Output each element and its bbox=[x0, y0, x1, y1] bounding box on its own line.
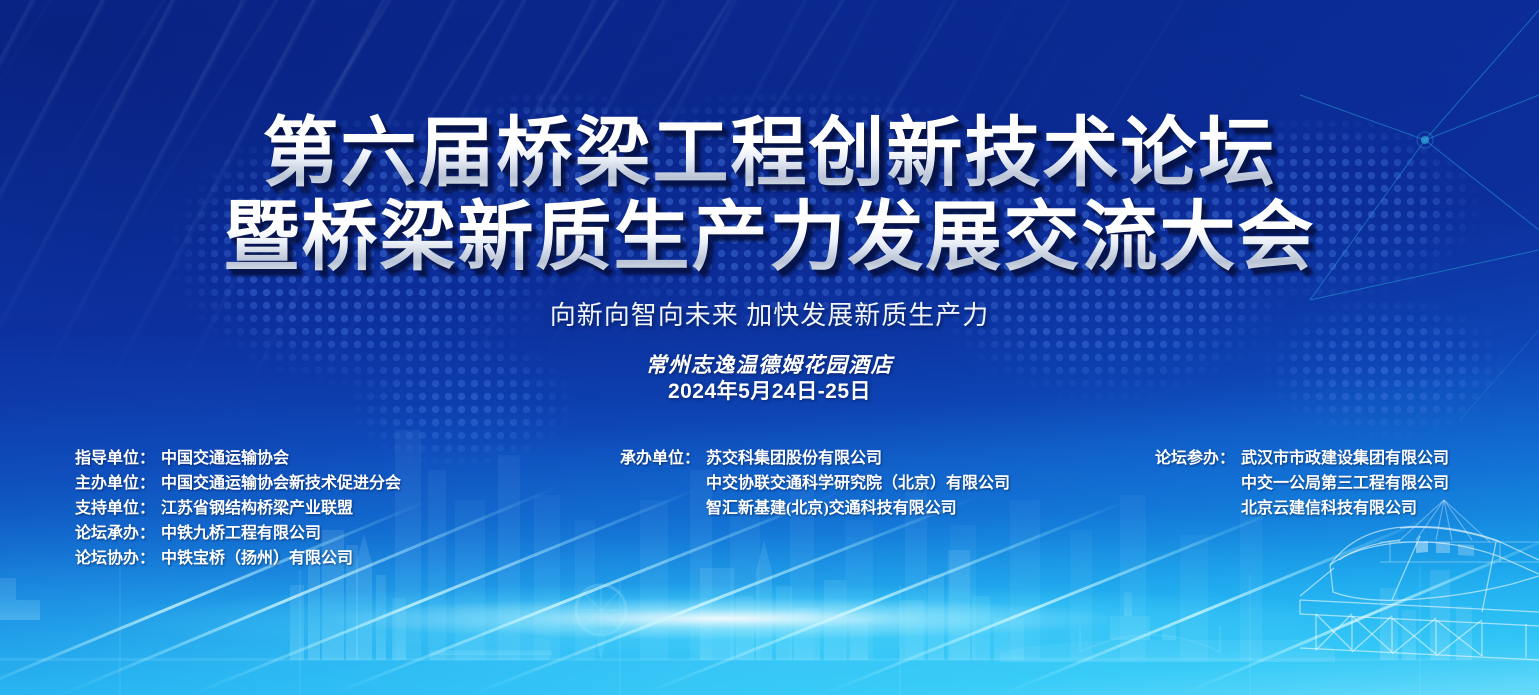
credit-row: 论坛承办： 中铁九桥工程有限公司 bbox=[75, 521, 401, 546]
credit-value: 中铁九桥工程有限公司 bbox=[161, 521, 321, 546]
venue-name: 常州志逸温德姆花园酒店 bbox=[0, 352, 1539, 378]
credit-label: 支持单位： bbox=[75, 496, 161, 521]
credit-value: 北京云建信科技有限公司 bbox=[1241, 496, 1417, 521]
credit-row: 论坛参办： 北京云建信科技有限公司 bbox=[1155, 496, 1449, 521]
credits-section: 指导单位： 中国交通运输协会 主办单位： 中国交通运输协会新技术促进分会 支持单… bbox=[0, 446, 1539, 576]
credit-label: 论坛承办： bbox=[75, 521, 161, 546]
credit-value: 中交协联交通科学研究院（北京）有限公司 bbox=[706, 471, 1010, 496]
subtitle: 向新向智向未来 加快发展新质生产力 bbox=[0, 295, 1539, 332]
credit-value: 中国交通运输协会新技术促进分会 bbox=[161, 471, 401, 496]
credit-row: 承办单位： 智汇新基建(北京)交通科技有限公司 bbox=[620, 496, 1010, 521]
credits-column-middle: 承办单位： 苏交科集团股份有限公司 承办单位： 中交协联交通科学研究院（北京）有… bbox=[620, 446, 1010, 521]
credits-column-right: 论坛参办： 武汉市市政建设集团有限公司 论坛参办： 中交一公局第三工程有限公司 … bbox=[1155, 446, 1449, 521]
credit-label: 承办单位： bbox=[620, 446, 706, 471]
credit-value: 智汇新基建(北京)交通科技有限公司 bbox=[706, 496, 957, 521]
credit-value: 中铁宝桥（扬州）有限公司 bbox=[161, 546, 353, 571]
credit-row: 论坛参办： 武汉市市政建设集团有限公司 bbox=[1155, 446, 1449, 471]
credit-value: 中交一公局第三工程有限公司 bbox=[1241, 471, 1449, 496]
credit-row: 指导单位： 中国交通运输协会 bbox=[75, 446, 401, 471]
credit-value: 中国交通运输协会 bbox=[161, 446, 289, 471]
credit-row: 承办单位： 苏交科集团股份有限公司 bbox=[620, 446, 1010, 471]
credit-label: 指导单位： bbox=[75, 446, 161, 471]
credit-label: 论坛协办： bbox=[75, 546, 161, 571]
credit-row: 承办单位： 中交协联交通科学研究院（北京）有限公司 bbox=[620, 471, 1010, 496]
banner-content: 第六届桥梁工程创新技术论坛 暨桥梁新质生产力发展交流大会 向新向智向未来 加快发… bbox=[0, 0, 1539, 695]
conference-banner: 第六届桥梁工程创新技术论坛 暨桥梁新质生产力发展交流大会 向新向智向未来 加快发… bbox=[0, 0, 1539, 695]
credit-label: 论坛参办： bbox=[1155, 446, 1241, 471]
credits-column-left: 指导单位： 中国交通运输协会 主办单位： 中国交通运输协会新技术促进分会 支持单… bbox=[75, 446, 401, 571]
credit-label: 主办单位： bbox=[75, 471, 161, 496]
title-line-2: 暨桥梁新质生产力发展交流大会 bbox=[0, 196, 1539, 280]
credit-row: 论坛协办： 中铁宝桥（扬州）有限公司 bbox=[75, 546, 401, 571]
credit-value: 苏交科集团股份有限公司 bbox=[706, 446, 882, 471]
credit-row: 论坛参办： 中交一公局第三工程有限公司 bbox=[1155, 471, 1449, 496]
venue-block: 常州志逸温德姆花园酒店 2024年5月24日-25日 bbox=[0, 352, 1539, 406]
credit-value: 江苏省钢结构桥梁产业联盟 bbox=[161, 496, 353, 521]
event-date: 2024年5月24日-25日 bbox=[0, 378, 1539, 406]
title-line-1: 第六届桥梁工程创新技术论坛 bbox=[0, 112, 1539, 196]
credit-value: 武汉市市政建设集团有限公司 bbox=[1241, 446, 1449, 471]
title-block: 第六届桥梁工程创新技术论坛 暨桥梁新质生产力发展交流大会 bbox=[0, 112, 1539, 280]
credit-row: 支持单位： 江苏省钢结构桥梁产业联盟 bbox=[75, 496, 401, 521]
credit-row: 主办单位： 中国交通运输协会新技术促进分会 bbox=[75, 471, 401, 496]
